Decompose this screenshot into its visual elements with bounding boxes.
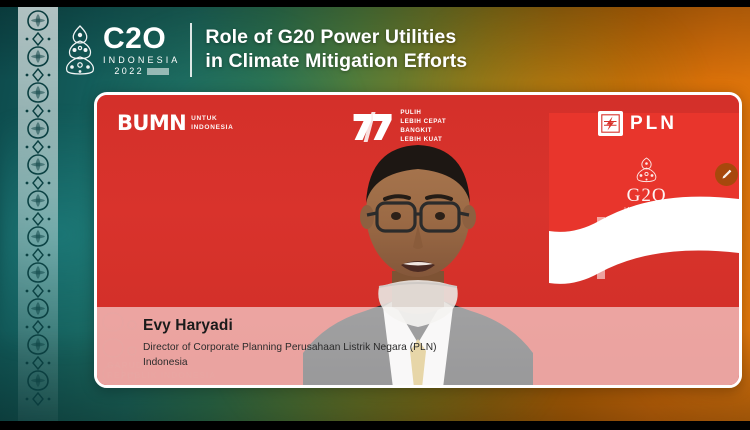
page-title-line1: Role of G20 Power Utilities <box>205 26 467 50</box>
pln-badge <box>598 111 623 136</box>
pencil-icon <box>720 168 733 181</box>
speaker-name: Evy Haryadi <box>143 317 739 334</box>
seventy-seven-icon <box>351 110 393 144</box>
g20-year: 2022 <box>637 214 656 220</box>
bumn-tagline: UNTUK INDONESIA <box>191 115 233 131</box>
bumn-wordmark: BUMN <box>117 113 186 134</box>
g20-country: INDONESIA <box>624 207 669 213</box>
c20-wordmark-text: C2O <box>103 24 180 54</box>
c20-tag-box <box>147 68 169 75</box>
lightning-bolt-icon <box>601 114 620 133</box>
page-title-line2: in Climate Mitigation Efforts <box>205 50 467 74</box>
c20-year-text: 2022 <box>114 67 144 76</box>
c20-wordmark: C2O INDONESIA 2022 <box>103 24 180 76</box>
g20-ornament-icon <box>630 157 663 184</box>
letterbox-top <box>0 0 750 7</box>
speaker-name-banner: Evy Haryadi Director of Corporate Planni… <box>97 307 739 385</box>
header-divider <box>190 23 192 77</box>
bumn-tagline-line2: INDONESIA <box>191 124 233 132</box>
g20-wordmark: G2O <box>627 186 667 205</box>
bumn-tagline-line1: UNTUK <box>191 115 233 123</box>
letterbox-bottom <box>0 421 750 430</box>
header-bar: C2O INDONESIA 2022 Role of G20 Power Uti… <box>0 7 750 92</box>
g20-watermark-logo: G2O INDONESIA 2022 <box>624 157 669 220</box>
anniversary-slogan-line3: BANGKIT <box>400 127 446 136</box>
c20-ornament-icon <box>62 24 98 76</box>
video-slide-background: BUMN UNTUK INDONESIA PULIH LEBIH CEPAT B… <box>97 95 739 385</box>
anniversary-slogan-line4: LEBIH KUAT <box>400 136 446 145</box>
c20-country-text: INDONESIA <box>103 56 180 65</box>
anniversary-slogan: PULIH LEBIH CEPAT BANGKIT LEBIH KUAT <box>400 109 446 145</box>
c20-year-row: 2022 <box>103 67 180 76</box>
anniversary-slogan-line2: LEBIH CEPAT <box>400 118 446 127</box>
speaker-role: Director of Corporate Planning Perusahaa… <box>143 341 739 356</box>
anniversary-logo: PULIH LEBIH CEPAT BANGKIT LEBIH KUAT <box>351 109 446 145</box>
video-presentation-card[interactable]: BUMN UNTUK INDONESIA PULIH LEBIH CEPAT B… <box>94 92 742 388</box>
c20-logo: C2O INDONESIA 2022 <box>62 24 180 76</box>
page-title: Role of G20 Power Utilities in Climate M… <box>205 26 467 74</box>
pln-wordmark: PLN <box>630 114 677 133</box>
pln-logo: PLN <box>598 111 677 136</box>
bumn-logo: BUMN UNTUK INDONESIA <box>117 113 234 134</box>
speaker-country: Indonesia <box>143 356 739 371</box>
anniversary-slogan-line1: PULIH <box>400 109 446 118</box>
screenshot-root: C2O INDONESIA 2022 Role of G20 Power Uti… <box>0 0 750 430</box>
edit-button[interactable] <box>715 163 738 186</box>
